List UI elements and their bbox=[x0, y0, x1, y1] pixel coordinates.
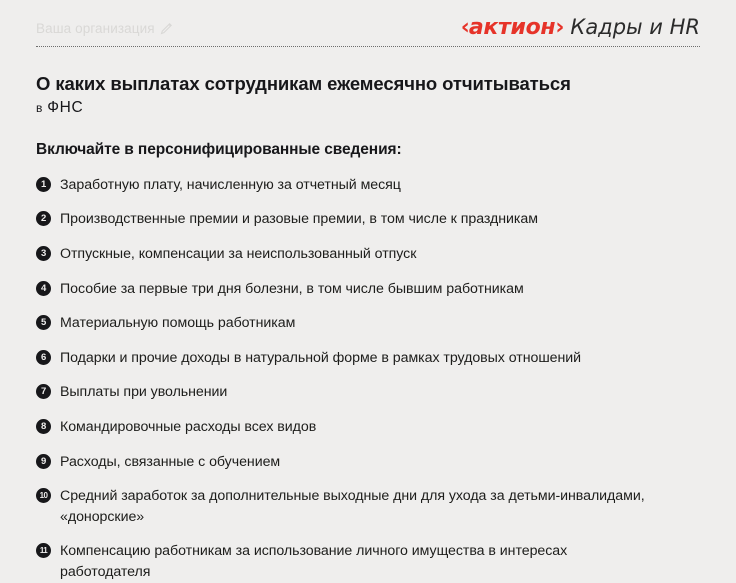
page-title-line-2-lead: в bbox=[36, 101, 42, 115]
list-item: 8 Командировочные расходы всех видов bbox=[36, 417, 700, 438]
payments-list: 1 Заработную плату, начисленную за отчет… bbox=[36, 175, 700, 583]
list-item-line-1: Командировочные расходы всех видов bbox=[60, 419, 316, 435]
list-item-line-1: Средний заработок за дополнительные выхо… bbox=[60, 488, 645, 504]
page-title-line-2-rest: ФНС bbox=[47, 99, 83, 116]
list-item: 1 Заработную плату, начисленную за отчет… bbox=[36, 175, 700, 196]
list-item-line-1: Пособие за первые три дня болезни, в том… bbox=[60, 281, 524, 297]
page-content: О каких выплатах сотрудникам ежемесячно … bbox=[0, 52, 736, 583]
list-item-text: Подарки и прочие доходы в натуральной фо… bbox=[60, 348, 581, 369]
list-item-line-1: Подарки и прочие доходы в натуральной фо… bbox=[60, 350, 581, 366]
list-item-line-1: Заработную плату, начисленную за отчетны… bbox=[60, 177, 401, 193]
organization-block[interactable]: Ваша организация bbox=[36, 20, 173, 36]
list-item: 9 Расходы, связанные с обучением bbox=[36, 452, 700, 473]
infographic-page: Ваша организация ‹актион› Кадры и HR О к… bbox=[0, 0, 736, 553]
pencil-icon[interactable] bbox=[160, 22, 173, 35]
brand-logo: ‹актион› Кадры и HR bbox=[461, 15, 700, 40]
list-item-number: 10 bbox=[36, 488, 51, 503]
list-item-number: 3 bbox=[36, 246, 51, 261]
logo-mark: ‹актион› bbox=[461, 15, 564, 40]
list-item: 3 Отпускные, компенсации за неиспользова… bbox=[36, 244, 700, 265]
list-item-text: Заработную плату, начисленную за отчетны… bbox=[60, 175, 401, 196]
list-item: 2 Производственные премии и разовые прем… bbox=[36, 209, 700, 230]
list-item-text: Командировочные расходы всех видов bbox=[60, 417, 316, 438]
list-item-text: Компенсацию работникам за использование … bbox=[60, 541, 567, 582]
page-title-line-1: О каких выплатах сотрудникам ежемесячно … bbox=[36, 73, 571, 94]
logo-product-name: Кадры и HR bbox=[570, 15, 700, 39]
list-item-number: 2 bbox=[36, 211, 51, 226]
list-item-line-1: Материальную помощь работникам bbox=[60, 315, 295, 331]
page-title-line-2: в ФНС bbox=[36, 98, 700, 118]
list-item-number: 1 bbox=[36, 177, 51, 192]
logo-word: актион bbox=[469, 15, 555, 40]
list-item-text: Пособие за первые три дня болезни, в том… bbox=[60, 279, 524, 300]
list-item-number: 4 bbox=[36, 281, 51, 296]
list-item-number: 8 bbox=[36, 419, 51, 434]
list-item-number: 5 bbox=[36, 315, 51, 330]
list-item-line-1: Производственные премии и разовые премии… bbox=[60, 211, 538, 227]
page-header: Ваша организация ‹актион› Кадры и HR bbox=[0, 0, 736, 52]
list-item: 11 Компенсацию работникам за использован… bbox=[36, 541, 700, 582]
list-item-line-1: Отпускные, компенсации за неиспользованн… bbox=[60, 246, 416, 262]
list-item-line-1: Выплаты при увольнении bbox=[60, 384, 227, 400]
list-item-line-1: Расходы, связанные с обучением bbox=[60, 454, 280, 470]
list-item-line-2: «донорские» bbox=[60, 507, 645, 528]
header-divider bbox=[36, 46, 700, 47]
list-item-text: Расходы, связанные с обучением bbox=[60, 452, 280, 473]
list-item-text: Отпускные, компенсации за неиспользованн… bbox=[60, 244, 416, 265]
logo-bracket-close: › bbox=[555, 15, 563, 40]
list-item-text: Материальную помощь работникам bbox=[60, 313, 295, 334]
list-item-text: Средний заработок за дополнительные выхо… bbox=[60, 486, 645, 527]
list-item: 10 Средний заработок за дополнительные в… bbox=[36, 486, 700, 527]
list-item-number: 6 bbox=[36, 350, 51, 365]
list-item-number: 11 bbox=[36, 543, 51, 558]
organization-label: Ваша организация bbox=[36, 21, 155, 36]
logo-bracket-open: ‹ bbox=[461, 15, 469, 40]
list-item: 4 Пособие за первые три дня болезни, в т… bbox=[36, 279, 700, 300]
list-item-line-2: работодателя bbox=[60, 562, 567, 583]
list-item-number: 7 bbox=[36, 384, 51, 399]
page-title: О каких выплатах сотрудникам ежемесячно … bbox=[36, 72, 700, 119]
list-item: 5 Материальную помощь работникам bbox=[36, 313, 700, 334]
list-item-text: Выплаты при увольнении bbox=[60, 382, 227, 403]
list-item-text: Производственные премии и разовые премии… bbox=[60, 209, 538, 230]
list-item: 7 Выплаты при увольнении bbox=[36, 382, 700, 403]
list-item-line-1: Компенсацию работникам за использование … bbox=[60, 543, 567, 559]
list-item-number: 9 bbox=[36, 454, 51, 469]
list-item: 6 Подарки и прочие доходы в натуральной … bbox=[36, 348, 700, 369]
lead-in-text: Включайте в персонифицированные сведения… bbox=[36, 141, 700, 159]
